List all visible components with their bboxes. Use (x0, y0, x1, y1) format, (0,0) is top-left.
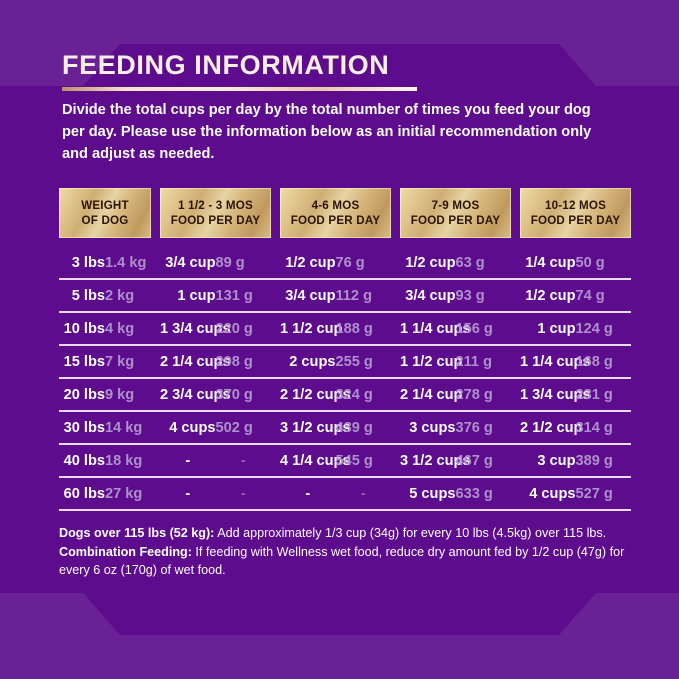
header-gap (151, 188, 160, 238)
cell-weight-kg: 18 kg (105, 444, 151, 477)
cell-cups-1: 1 3/4 cups (160, 312, 216, 345)
cell-cups-1: 1 cup (160, 279, 216, 312)
header-line-2: FOOD PER DAY (280, 213, 391, 228)
cell-grams-4: 168 g (576, 345, 632, 378)
cell-gap (511, 312, 520, 345)
note-label-large-dogs: Dogs over 115 lbs (52 kg): (59, 526, 214, 540)
cell-grams-1: 502 g (216, 411, 272, 444)
cell-weight-kg: 2 kg (105, 279, 151, 312)
cell-cups-1: 2 1/4 cups (160, 345, 216, 378)
cell-weight-kg: 7 kg (105, 345, 151, 378)
cell-gap (271, 345, 280, 378)
cell-grams-2: 188 g (336, 312, 392, 345)
cell-grams-3: 211 g (456, 345, 512, 378)
header-line-2: FOOD PER DAY (400, 213, 511, 228)
table-row: 5 lbs2 kg1 cup131 g3/4 cup112 g3/4 cup93… (59, 279, 631, 312)
cell-gap (151, 477, 160, 510)
cell-cups-2: 1/2 cup (280, 247, 336, 279)
table-body: 3 lbs1.4 kg3/4 cup89 g1/2 cup76 g1/2 cup… (59, 247, 631, 510)
cell-grams-1: 298 g (216, 345, 272, 378)
cell-cups-3: 3 1/2 cups (400, 444, 456, 477)
cell-grams-2: - (336, 477, 392, 510)
cell-weight-kg: 1.4 kg (105, 247, 151, 279)
cell-grams-1: 89 g (216, 247, 272, 279)
cell-grams-4: 124 g (576, 312, 632, 345)
table-row: 10 lbs4 kg1 3/4 cups220 g1 1/2 cup188 g1… (59, 312, 631, 345)
cell-gap (391, 312, 400, 345)
cell-cups-4: 1/2 cup (520, 279, 576, 312)
cell-grams-4: 314 g (576, 411, 632, 444)
cell-cups-3: 5 cups (400, 477, 456, 510)
note-text-large-dogs: Add approximately 1/3 cup (34g) for ever… (214, 526, 606, 540)
header-gap (391, 188, 400, 238)
header-line-1: 7-9 MOS (400, 198, 511, 213)
cell-grams-4: 50 g (576, 247, 632, 279)
column-header-1-5-to-3-mos: 1 1/2 - 3 MOS FOOD PER DAY (160, 188, 271, 238)
cell-cups-2: 3/4 cup (280, 279, 336, 312)
cell-weight-lbs: 5 lbs (59, 279, 105, 312)
cell-grams-4: 231 g (576, 378, 632, 411)
cell-cups-3: 1/2 cup (400, 247, 456, 279)
header-row: WEIGHT OF DOG 1 1/2 - 3 MOS FOOD PER DAY… (59, 188, 631, 238)
cell-weight-lbs: 40 lbs (59, 444, 105, 477)
cell-grams-1: 220 g (216, 312, 272, 345)
table-header: WEIGHT OF DOG 1 1/2 - 3 MOS FOOD PER DAY… (59, 188, 631, 247)
header-gap (271, 188, 280, 238)
cell-gap (271, 444, 280, 477)
cell-gap (511, 444, 520, 477)
decorative-band-bottom (0, 593, 679, 679)
table-row: 20 lbs9 kg2 3/4 cups370 g2 1/2 cups324 g… (59, 378, 631, 411)
cell-gap (151, 247, 160, 279)
cell-grams-3: 278 g (456, 378, 512, 411)
feeding-table: WEIGHT OF DOG 1 1/2 - 3 MOS FOOD PER DAY… (59, 188, 631, 511)
cell-cups-1: - (160, 444, 216, 477)
header-line-2: FOOD PER DAY (520, 213, 631, 228)
header-line-1: 1 1/2 - 3 MOS (160, 198, 271, 213)
cell-weight-kg: 9 kg (105, 378, 151, 411)
cell-grams-4: 527 g (576, 477, 632, 510)
cell-gap (151, 378, 160, 411)
header-line-2: OF DOG (59, 213, 151, 228)
cell-gap (271, 247, 280, 279)
cell-gap (511, 477, 520, 510)
table-row: 40 lbs18 kg--4 1/4 cups545 g3 1/2 cups46… (59, 444, 631, 477)
cell-cups-3: 3/4 cup (400, 279, 456, 312)
header-line-1: 10-12 MOS (520, 198, 631, 213)
cell-gap (151, 444, 160, 477)
table-row: 15 lbs7 kg2 1/4 cups298 g2 cups255 g1 1/… (59, 345, 631, 378)
cell-grams-3: 93 g (456, 279, 512, 312)
note-label-combination-feeding: Combination Feeding: (59, 545, 192, 559)
cell-cups-3: 2 1/4 cup (400, 378, 456, 411)
cell-cups-4: 1 cup (520, 312, 576, 345)
cell-cups-1: - (160, 477, 216, 510)
cell-weight-lbs: 15 lbs (59, 345, 105, 378)
title-divider (62, 87, 417, 91)
header-spacer-row (59, 238, 631, 247)
header-line-1: WEIGHT (59, 198, 151, 213)
cell-gap (511, 247, 520, 279)
footer-note: Dogs over 115 lbs (52 kg): Add approxima… (59, 524, 634, 580)
column-header-7-to-9-mos: 7-9 MOS FOOD PER DAY (400, 188, 511, 238)
cell-cups-2: 2 cups (280, 345, 336, 378)
cell-cups-3: 1 1/4 cups (400, 312, 456, 345)
cell-weight-kg: 14 kg (105, 411, 151, 444)
header-line-1: 4-6 MOS (280, 198, 391, 213)
cell-grams-1: - (216, 444, 272, 477)
cell-cups-4: 1 3/4 cups (520, 378, 576, 411)
cell-gap (151, 345, 160, 378)
header-line-2: FOOD PER DAY (160, 213, 271, 228)
cell-gap (271, 378, 280, 411)
cell-grams-3: 633 g (456, 477, 512, 510)
cell-gap (391, 279, 400, 312)
table-row: 60 lbs27 kg----5 cups633 g4 cups527 g (59, 477, 631, 510)
cell-grams-1: - (216, 477, 272, 510)
cell-gap (391, 247, 400, 279)
cell-cups-2: 4 1/4 cups (280, 444, 336, 477)
cell-gap (151, 411, 160, 444)
cell-grams-4: 74 g (576, 279, 632, 312)
cell-gap (511, 411, 520, 444)
cell-grams-2: 324 g (336, 378, 392, 411)
cell-grams-3: 156 g (456, 312, 512, 345)
cell-grams-3: 63 g (456, 247, 512, 279)
cell-grams-1: 131 g (216, 279, 272, 312)
cell-gap (271, 477, 280, 510)
cell-grams-2: 439 g (336, 411, 392, 444)
cell-weight-lbs: 20 lbs (59, 378, 105, 411)
cell-cups-4: 4 cups (520, 477, 576, 510)
column-header-10-to-12-mos: 10-12 MOS FOOD PER DAY (520, 188, 631, 238)
cell-cups-3: 1 1/2 cup (400, 345, 456, 378)
cell-gap (391, 345, 400, 378)
column-header-weight: WEIGHT OF DOG (59, 188, 151, 238)
cell-cups-1: 4 cups (160, 411, 216, 444)
table-row: 3 lbs1.4 kg3/4 cup89 g1/2 cup76 g1/2 cup… (59, 247, 631, 279)
header-gap (511, 188, 520, 238)
cell-gap (391, 378, 400, 411)
cell-cups-2: 2 1/2 cups (280, 378, 336, 411)
cell-gap (511, 279, 520, 312)
cell-gap (511, 345, 520, 378)
cell-grams-2: 76 g (336, 247, 392, 279)
cell-grams-2: 255 g (336, 345, 392, 378)
cell-cups-2: 3 1/2 cups (280, 411, 336, 444)
cell-grams-4: 389 g (576, 444, 632, 477)
cell-grams-1: 370 g (216, 378, 272, 411)
page-title: FEEDING INFORMATION (62, 50, 389, 81)
cell-weight-lbs: 3 lbs (59, 247, 105, 279)
cell-gap (151, 312, 160, 345)
cell-weight-lbs: 10 lbs (59, 312, 105, 345)
cell-weight-lbs: 30 lbs (59, 411, 105, 444)
cell-cups-4: 1/4 cup (520, 247, 576, 279)
cell-cups-1: 2 3/4 cups (160, 378, 216, 411)
cell-cups-4: 3 cup (520, 444, 576, 477)
cell-gap (391, 411, 400, 444)
cell-gap (271, 312, 280, 345)
table-row: 30 lbs14 kg4 cups502 g3 1/2 cups439 g3 c… (59, 411, 631, 444)
cell-cups-4: 1 1/4 cups (520, 345, 576, 378)
cell-grams-3: 467 g (456, 444, 512, 477)
column-header-4-to-6-mos: 4-6 MOS FOOD PER DAY (280, 188, 391, 238)
cell-gap (271, 411, 280, 444)
cell-grams-2: 545 g (336, 444, 392, 477)
cell-cups-3: 3 cups (400, 411, 456, 444)
cell-gap (391, 477, 400, 510)
cell-weight-lbs: 60 lbs (59, 477, 105, 510)
cell-cups-2: - (280, 477, 336, 510)
cell-weight-kg: 4 kg (105, 312, 151, 345)
cell-cups-1: 3/4 cup (160, 247, 216, 279)
cell-gap (511, 378, 520, 411)
cell-gap (391, 444, 400, 477)
cell-weight-kg: 27 kg (105, 477, 151, 510)
cell-cups-2: 1 1/2 cup (280, 312, 336, 345)
cell-grams-3: 376 g (456, 411, 512, 444)
feeding-information-panel: FEEDING INFORMATION Divide the total cup… (0, 0, 679, 679)
intro-paragraph: Divide the total cups per day by the tot… (62, 99, 607, 165)
cell-gap (271, 279, 280, 312)
cell-grams-2: 112 g (336, 279, 392, 312)
cell-cups-4: 2 1/2 cup (520, 411, 576, 444)
cell-gap (151, 279, 160, 312)
